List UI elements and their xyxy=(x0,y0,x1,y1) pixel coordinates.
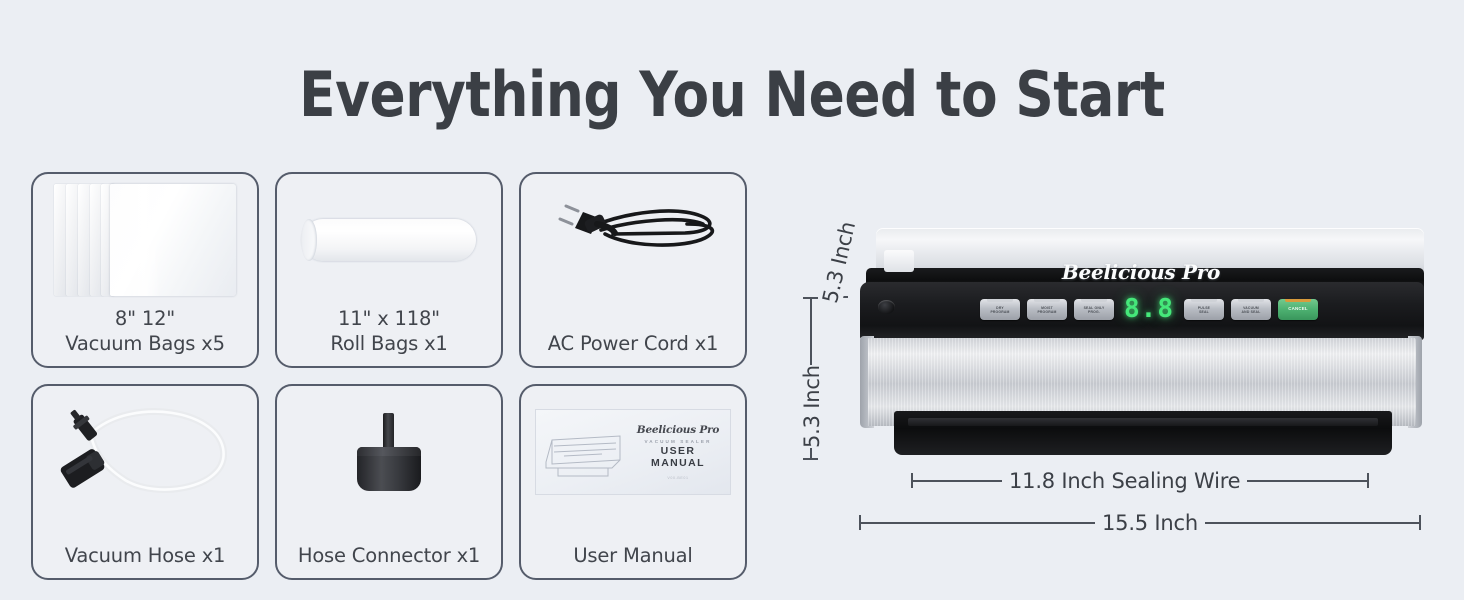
manual-subtitle: VACUUM SEALER xyxy=(644,439,711,444)
control-button-label: DRY PROGRAM xyxy=(990,304,1009,314)
control-button-label: MOIST PROGRAM xyxy=(1037,304,1056,314)
kit-card-label: AC Power Cord x1 xyxy=(548,331,719,356)
dimension-cap xyxy=(1367,473,1369,488)
product-dimension-diagram: Beelicious Pro DRY PROGRAM MOIST PROGRAM… xyxy=(780,200,1440,552)
kit-contents-grid: 8" 12" Vacuum Bags x5 11" x 118" Roll Ba… xyxy=(31,172,759,580)
hose-connector-icon xyxy=(277,386,501,518)
dimension-cap xyxy=(911,473,913,488)
control-button-moist[interactable]: MOIST PROGRAM xyxy=(1027,299,1067,320)
machine-brand-logo: Beelicious Pro xyxy=(858,260,1424,284)
control-button-pulse[interactable]: PULSE SEAL xyxy=(1184,299,1224,320)
kit-card-hose-connector[interactable]: Hose Connector x1 xyxy=(275,384,503,580)
control-button-label: VACUUM AND SEAL xyxy=(1242,304,1261,314)
manual-title: USER MANUAL xyxy=(632,445,724,469)
kit-card-user-manual[interactable]: Beelicious Pro VACUUM SEALER USER MANUAL… xyxy=(519,384,747,580)
manual-brand: Beelicious Pro xyxy=(637,424,719,436)
kit-card-vacuum-bags[interactable]: 8" 12" Vacuum Bags x5 xyxy=(31,172,259,368)
vacuum-bags-icon xyxy=(33,174,257,306)
control-button-dry[interactable]: DRY PROGRAM xyxy=(980,299,1020,320)
power-cord-icon xyxy=(521,174,745,306)
control-button-vacuum-seal[interactable]: VACUUM AND SEAL xyxy=(1231,299,1271,320)
kit-card-label: 8" 12" Vacuum Bags x5 xyxy=(65,306,225,356)
control-button-label: SEAL ONLY PROG. xyxy=(1084,304,1105,314)
dimension-cap xyxy=(803,297,818,299)
kit-card-label: Vacuum Hose x1 xyxy=(65,543,226,568)
control-button-label: PULSE SEAL xyxy=(1198,304,1210,314)
hose-port-icon[interactable] xyxy=(878,300,895,314)
kit-card-label: Hose Connector x1 xyxy=(298,543,480,568)
kit-card-label: User Manual xyxy=(573,543,692,568)
dimension-label-total-width: 15.5 Inch xyxy=(1095,511,1205,535)
manual-code: V00-BE01 xyxy=(667,476,688,480)
dimension-cap xyxy=(803,458,818,460)
kit-card-label: 11" x 118" Roll Bags x1 xyxy=(330,306,447,356)
machine-lid-latch[interactable] xyxy=(884,250,914,272)
control-button-row: DRY PROGRAM MOIST PROGRAM SEAL ONLY PROG… xyxy=(980,294,1320,324)
page-title: Everything You Need to Start xyxy=(102,58,1361,131)
kit-card-vacuum-hose[interactable]: Vacuum Hose x1 xyxy=(31,384,259,580)
dimension-label-body-height: 5.3 Inch xyxy=(800,365,824,448)
user-manual-icon: Beelicious Pro VACUUM SEALER USER MANUAL… xyxy=(521,386,745,518)
seven-segment-display: 8.8 xyxy=(1121,296,1177,322)
dimension-label-sealing-wire: 11.8 Inch Sealing Wire xyxy=(1002,469,1247,493)
vacuum-sealer-machine: Beelicious Pro DRY PROGRAM MOIST PROGRAM… xyxy=(858,228,1424,460)
roll-bag-icon xyxy=(277,174,501,306)
machine-bag-slot xyxy=(894,411,1392,455)
control-button-seal-only[interactable]: SEAL ONLY PROG. xyxy=(1074,299,1114,320)
control-button-cancel[interactable]: CANCEL xyxy=(1278,299,1318,320)
kit-card-ac-power-cord[interactable]: AC Power Cord x1 xyxy=(519,172,747,368)
manual-machine-drawing xyxy=(536,410,632,494)
dimension-cap xyxy=(859,515,861,530)
vacuum-hose-icon xyxy=(33,386,257,518)
dimension-cap xyxy=(1419,515,1421,530)
kit-card-roll-bags[interactable]: 11" x 118" Roll Bags x1 xyxy=(275,172,503,368)
control-button-label: CANCEL xyxy=(1288,307,1308,311)
